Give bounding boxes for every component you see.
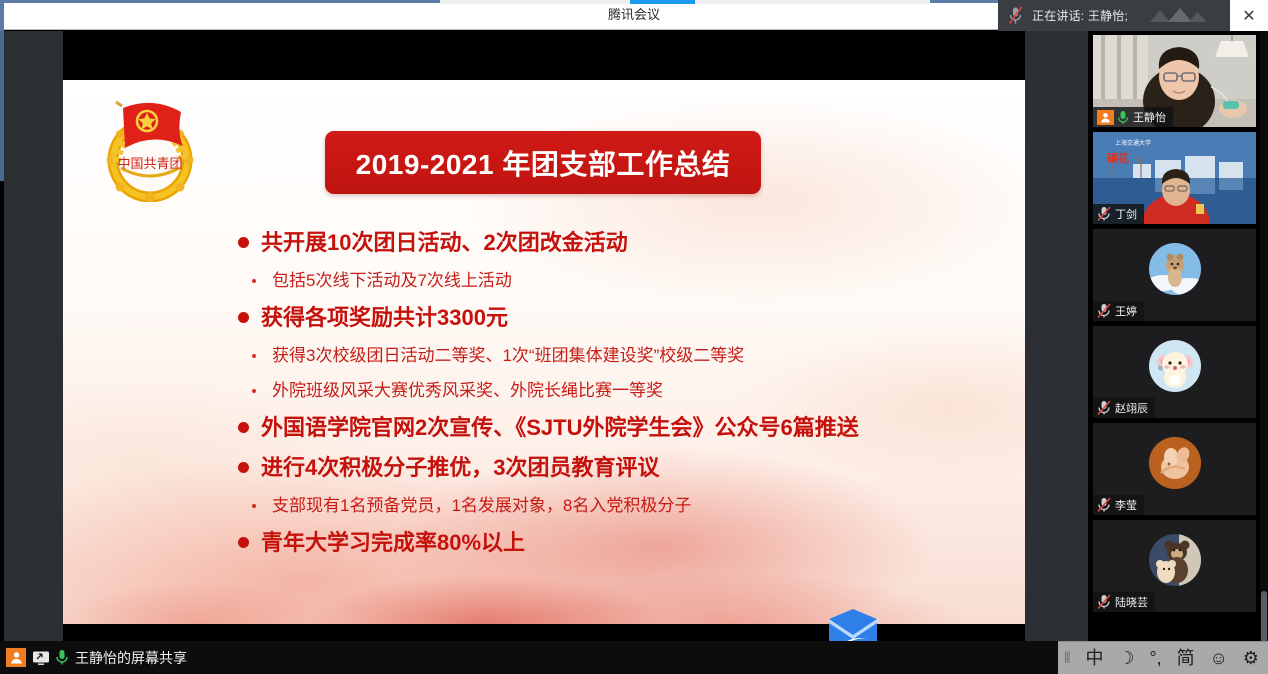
- communist-youth-league-emblem-icon: 中国共青团: [91, 92, 209, 202]
- bullet-text: 获得各项奖励共计3300元: [261, 303, 508, 333]
- sub-bullet-dot-icon: [252, 389, 256, 393]
- avatar: [1149, 534, 1201, 586]
- meeting-window: 腾讯会议 正在讲话: 王静怡; ✕: [0, 0, 1268, 674]
- bullet-item: 支部现有1名预备党员，1名发展对象，8名入党积极分子: [238, 493, 1018, 519]
- participant-name: 李莹: [1115, 497, 1137, 513]
- bullet-item: 进行4次积极分子推优，3次团员教育评议: [238, 453, 1018, 483]
- presentation-slide: 中国共青团 2019-2021 年团支部工作总结 共开展10次团日活动、2次团改…: [63, 80, 1025, 624]
- left-gutter: [4, 31, 63, 641]
- slide-bullet-list: 共开展10次团日活动、2次团改金活动 包括5次线下活动及7次线上活动 获得各项奖…: [238, 228, 1018, 568]
- bullet-text: 包括5次线下活动及7次线上活动: [272, 268, 512, 294]
- ime-punctuation-button[interactable]: °,: [1149, 649, 1161, 667]
- participant-tile[interactable]: 李莹: [1093, 423, 1256, 515]
- share-status-text: 王静怡的屏幕共享: [75, 648, 187, 668]
- ime-emoji-icon[interactable]: ☺: [1209, 649, 1227, 667]
- shared-screen-stage[interactable]: 中国共青团 2019-2021 年团支部工作总结 共开展10次团日活动、2次团改…: [63, 31, 1025, 641]
- participant-tile[interactable]: 王婷: [1093, 229, 1256, 321]
- mic-muted-icon: [1097, 594, 1111, 610]
- participant-tile[interactable]: 上海交通大学 硕花 丁剑: [1093, 132, 1256, 224]
- screen-share-status-bar: 王静怡的屏幕共享: [0, 641, 1088, 674]
- svg-text:中国共青团: 中国共青团: [117, 156, 182, 171]
- slide-title-banner: 2019-2021 年团支部工作总结: [325, 131, 761, 194]
- bullet-dot-icon: [238, 462, 249, 473]
- participant-label: 赵翊辰: [1093, 398, 1155, 418]
- sub-bullet-dot-icon: [252, 354, 256, 358]
- bullet-text: 支部现有1名预备党员，1名发展对象，8名入党积极分子: [272, 493, 691, 519]
- slide-title: 2019-2021 年团支部工作总结: [356, 143, 731, 183]
- bullet-text: 外国语学院官网2次宣传、《SJTU外院学生会》公众号6篇推送: [261, 413, 859, 443]
- speaking-label: 正在讲话: 王静怡;: [1032, 7, 1128, 24]
- avatar: [1149, 437, 1201, 489]
- screen-share-icon: [32, 650, 50, 666]
- mic-muted-icon: [1097, 400, 1111, 416]
- audio-waves-icon: [1146, 4, 1206, 28]
- sub-bullet-dot-icon: [252, 504, 256, 508]
- sub-bullet-dot-icon: [252, 279, 256, 283]
- svg-text:硕花: 硕花: [1107, 151, 1129, 165]
- bullet-text: 进行4次积极分子推优，3次团员教育评议: [261, 453, 659, 483]
- participant-label: 陆晓芸: [1093, 592, 1155, 612]
- mic-on-icon: [55, 649, 69, 666]
- participant-rail[interactable]: 王静怡 上海交通大学: [1088, 31, 1260, 674]
- bullet-dot-icon: [238, 312, 249, 323]
- participant-tile[interactable]: 王静怡: [1093, 35, 1256, 127]
- speaking-banner: 正在讲话: 王静怡;: [998, 0, 1230, 31]
- participant-label: 丁剑: [1093, 204, 1144, 224]
- bullet-dot-icon: [238, 537, 249, 548]
- bullet-item: 包括5次线下活动及7次线上活动: [238, 268, 1018, 294]
- participant-name: 王静怡: [1133, 109, 1166, 125]
- ime-simplified-button[interactable]: 简: [1177, 649, 1195, 667]
- avatar: [1149, 243, 1201, 295]
- participant-label: 李莹: [1093, 495, 1144, 515]
- participant-name: 赵翊辰: [1115, 400, 1148, 416]
- mic-muted-icon: [1097, 206, 1111, 222]
- window-frame-left-accent: [0, 31, 4, 181]
- mic-muted-icon: [1097, 303, 1111, 319]
- mic-on-icon: [1117, 110, 1129, 125]
- rail-gutter: [1025, 31, 1088, 674]
- participant-name: 陆晓芸: [1115, 594, 1148, 610]
- participant-tile[interactable]: 陆晓芸: [1093, 520, 1256, 612]
- svg-text:萌: 萌: [1158, 365, 1163, 372]
- host-badge-icon: [6, 648, 26, 667]
- participant-label: 王婷: [1093, 301, 1144, 321]
- ime-moon-mode-icon[interactable]: ☽: [1118, 649, 1134, 667]
- participant-tile[interactable]: 萌 赵翊辰: [1093, 326, 1256, 418]
- window-frame-left: [0, 0, 4, 34]
- bullet-text: 获得3次校级团日活动二等奖、1次“班团集体建设奖”校级二等奖: [272, 343, 744, 369]
- ime-toolbar[interactable]: ⦀ 中 ☽ °, 简 ☺ ⚙: [1058, 641, 1268, 674]
- bullet-item: 外国语学院官网2次宣传、《SJTU外院学生会》公众号6篇推送: [238, 413, 1018, 443]
- close-icon[interactable]: ✕: [1230, 0, 1268, 31]
- participant-name: 丁剑: [1115, 206, 1137, 222]
- ime-drag-handle[interactable]: ⦀: [1064, 651, 1071, 666]
- participant-name: 王婷: [1115, 303, 1137, 319]
- bullet-text: 外院班级风采大赛优秀风采奖、外院长绳比赛一等奖: [272, 378, 663, 404]
- mic-muted-icon: [1097, 497, 1111, 513]
- mic-muted-icon: [998, 0, 1032, 31]
- bullet-text: 共开展10次团日活动、2次团改金活动: [261, 228, 628, 258]
- bullet-item: 外院班级风采大赛优秀风采奖、外院长绳比赛一等奖: [238, 378, 1018, 404]
- participant-label: 王静怡: [1093, 107, 1173, 127]
- ime-settings-gear-icon[interactable]: ⚙: [1243, 649, 1259, 667]
- bullet-dot-icon: [238, 237, 249, 248]
- bullet-text: 青年大学习完成率80%以上: [261, 528, 525, 558]
- mail-envelope-icon: [823, 609, 883, 641]
- ime-language-mode-button[interactable]: 中: [1086, 649, 1104, 667]
- bullet-item: 青年大学习完成率80%以上: [238, 528, 1018, 558]
- bullet-dot-icon: [238, 422, 249, 433]
- active-tab-indicator[interactable]: [630, 0, 695, 4]
- host-badge-icon: [1097, 110, 1114, 125]
- bullet-item: 获得各项奖励共计3300元: [238, 303, 1018, 333]
- bullet-item: 获得3次校级团日活动二等奖、1次“班团集体建设奖”校级二等奖: [238, 343, 1018, 369]
- rail-scrollbar[interactable]: [1260, 31, 1268, 674]
- avatar: 萌: [1149, 340, 1201, 392]
- svg-text:上海交通大学: 上海交通大学: [1115, 139, 1151, 147]
- bullet-item: 共开展10次团日活动、2次团改金活动: [238, 228, 1018, 258]
